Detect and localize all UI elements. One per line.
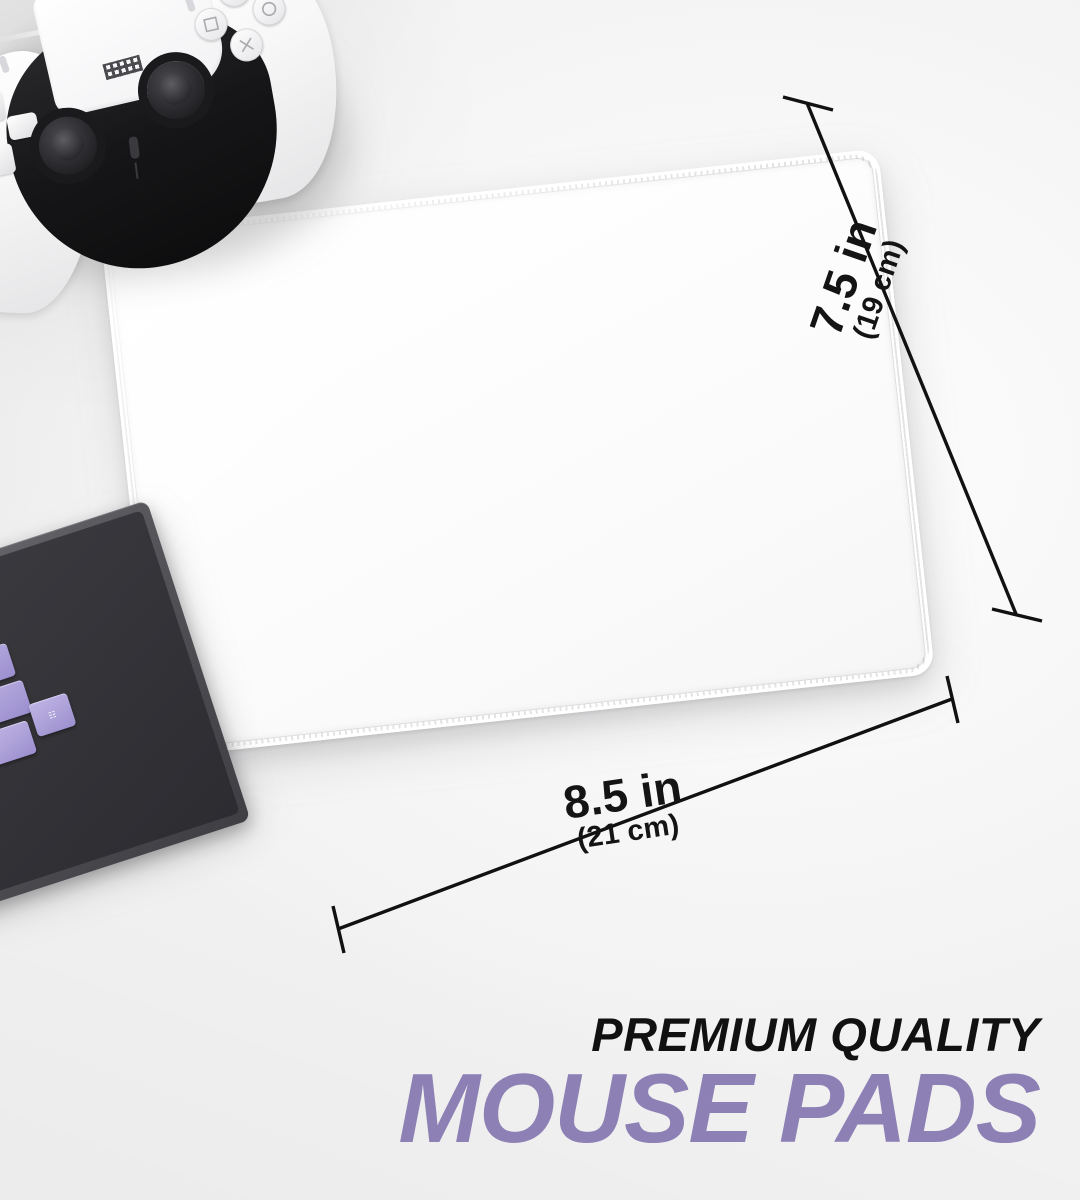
triangle-button-icon: [214, 0, 254, 10]
headline-title: MOUSE PADS: [0, 1060, 1040, 1156]
headline-block: PREMIUM QUALITY MOUSE PADS: [0, 1010, 1080, 1156]
keycap: [0, 720, 37, 767]
product-marketing-image: + =← Backspace{ [} ]| \← Enter" '? /⇧ Sh…: [0, 0, 1080, 1200]
controller-body: [0, 0, 393, 330]
keycap: ☷: [28, 692, 77, 737]
playstation-controller: [0, 0, 397, 359]
keycap-legend: ☷: [47, 709, 57, 720]
dpad-down-icon: [0, 143, 17, 177]
dpad-up-icon: [0, 90, 6, 124]
dpad-right-icon: [6, 112, 40, 141]
cross-button-icon: [227, 25, 267, 65]
circle-button-icon: [249, 0, 289, 29]
